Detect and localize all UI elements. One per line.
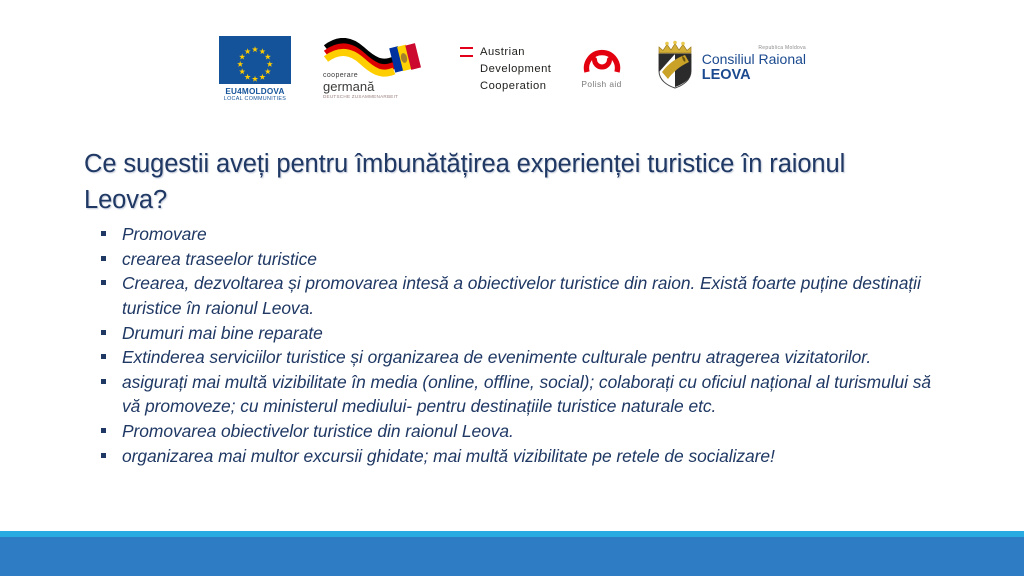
austrian-flag-icon: [460, 47, 473, 59]
austrian-development-cooperation-logo: Austrian Development Cooperation: [460, 36, 551, 94]
footer-bar: [0, 537, 1024, 576]
austrian-line2: Development: [480, 61, 551, 78]
list-item: Promovare: [96, 222, 946, 247]
list-item: asigurați mai multă vizibilitate în medi…: [96, 370, 946, 419]
polish-aid-caption: Polish aid: [581, 79, 621, 89]
eu-flag-icon: [219, 36, 291, 84]
slide-heading: Ce sugestii aveți pentru îmbunătățirea e…: [84, 146, 884, 218]
austrian-line3: Cooperation: [480, 78, 551, 95]
partner-logos-bar: EU4MOLDOVA LOCAL COMMUNITIES cooperare g…: [0, 36, 1024, 112]
consiliul-raional-leova-logo: Republica Moldova Consiliul Raional LEOV…: [652, 36, 806, 90]
austrian-line1: Austrian: [480, 44, 551, 61]
polish-aid-smile-icon: [583, 42, 621, 76]
list-item: Crearea, dezvoltarea și promovarea intes…: [96, 271, 946, 320]
eu4moldova-caption: EU4MOLDOVA: [225, 87, 284, 96]
german-cooperation-logo: cooperare germană DEUTSCHE ZUSAMMENARBEI…: [322, 36, 430, 99]
polish-aid-logo: Polish aid: [581, 36, 621, 89]
suggestions-list: Promovare crearea traseelor turistice Cr…: [96, 222, 946, 468]
list-item: crearea traseelor turistice: [96, 247, 946, 272]
eu4moldova-logo: EU4MOLDOVA LOCAL COMMUNITIES: [218, 36, 292, 103]
list-item: Extinderea serviciilor turistice și orga…: [96, 345, 946, 370]
leova-coat-of-arms-icon: [652, 38, 696, 90]
german-cooperation-line2: germană: [323, 80, 431, 94]
eu-stars-icon: [219, 36, 291, 84]
list-item: organizarea mai multor excursii ghidate;…: [96, 444, 946, 469]
leova-district-line: LEOVA: [702, 68, 806, 83]
list-item: Drumuri mai bine reparate: [96, 321, 946, 346]
list-item: Promovarea obiectivelor turistice din ra…: [96, 419, 946, 444]
german-cooperation-line3: DEUTSCHE ZUSAMMENARBEIT: [323, 94, 431, 99]
leova-text-block: Republica Moldova Consiliul Raional LEOV…: [702, 45, 806, 83]
eu4moldova-subcaption: LOCAL COMMUNITIES: [224, 97, 286, 103]
leova-council-line: Consiliul Raional: [702, 52, 806, 67]
austrian-cooperation-text: Austrian Development Cooperation: [480, 44, 551, 94]
